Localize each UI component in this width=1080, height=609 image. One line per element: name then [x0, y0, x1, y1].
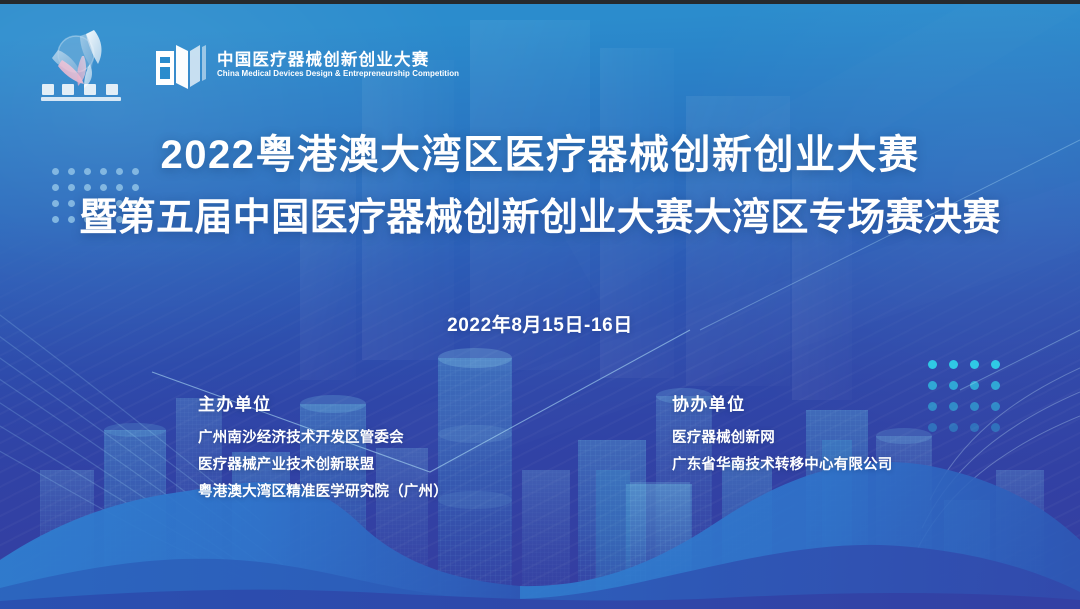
co-organizer-heading: 协办单位 [672, 390, 893, 415]
co-organizer-column: 协办单位 医疗器械创新网 广东省华南技术转移中心有限公司 [672, 390, 893, 474]
list-item: 医疗器械创新网 [672, 426, 893, 447]
title-line-primary: 2022粤港澳大湾区医疗器械创新创业大赛 [0, 128, 1080, 182]
list-item: 粤港澳大湾区精准医学研究院（广州） [198, 480, 448, 501]
competition-logo-cn-label: 中国医疗器械创新创业大赛 [217, 52, 467, 69]
host-organizer-list: 广州南沙经济技术开发区管委会 医疗器械产业技术创新联盟 粤港澳大湾区精准医学研究… [198, 426, 448, 501]
china-medical-devices-logo: 中国医疗器械创新创业大赛 China Medical Devices Desig… [154, 41, 467, 89]
innovation-china-bird-logo [36, 26, 132, 104]
title-line-secondary: 暨第五届中国医疗器械创新创业大赛大湾区专场赛决赛 [0, 190, 1080, 246]
host-organizer-heading: 主办单位 [198, 390, 448, 415]
top-edge-bar [0, 0, 1080, 4]
poster-canvas: 中国医疗器械创新创业大赛 China Medical Devices Desig… [0, 0, 1080, 609]
list-item: 广东省华南技术转移中心有限公司 [672, 453, 893, 474]
china-medical-devices-book-logo [154, 41, 206, 89]
host-organizer-column: 主办单位 广州南沙经济技术开发区管委会 医疗器械产业技术创新联盟 粤港澳大湾区精… [198, 390, 448, 501]
event-date: 2022年8月15日-16日 [0, 310, 1080, 337]
competition-logo-en-label: China Medical Devices Design & Entrepren… [217, 70, 459, 78]
header-logo-row: 中国医疗器械创新创业大赛 China Medical Devices Desig… [36, 26, 467, 104]
poster-title-block: 2022粤港澳大湾区医疗器械创新创业大赛 暨第五届中国医疗器械创新创业大赛大湾区… [0, 128, 1080, 246]
list-item: 广州南沙经济技术开发区管委会 [198, 426, 448, 447]
list-item: 医疗器械产业技术创新联盟 [198, 453, 448, 474]
co-organizer-list: 医疗器械创新网 广东省华南技术转移中心有限公司 [672, 426, 893, 474]
